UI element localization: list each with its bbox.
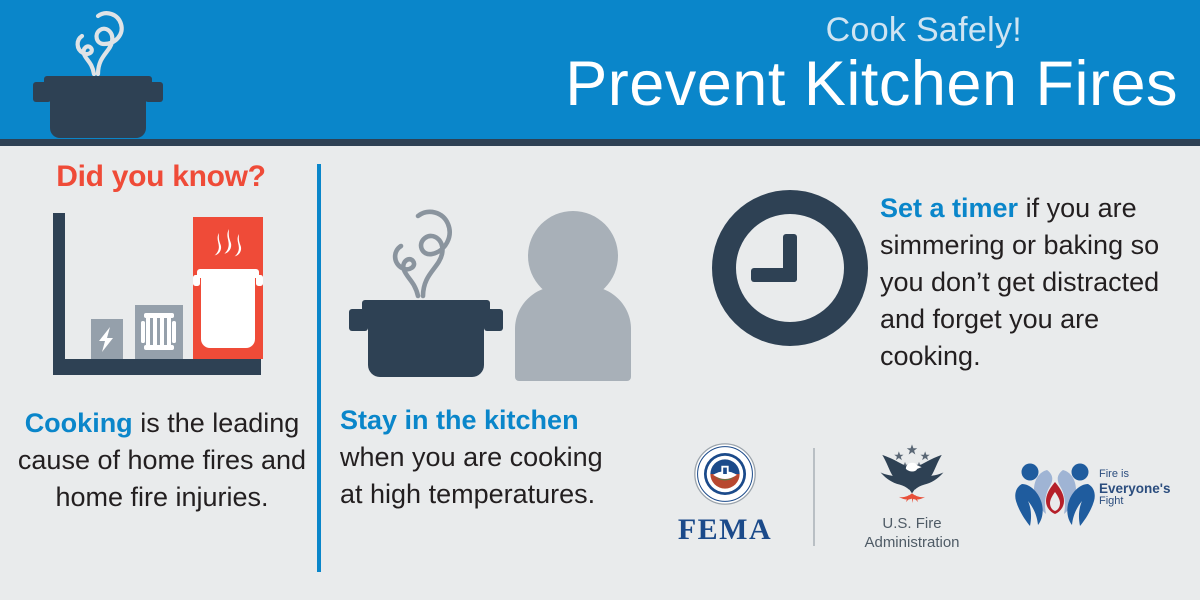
clock-hands <box>751 234 797 282</box>
middle-caption: Stay in the kitchen when you are cooking… <box>340 402 630 513</box>
two-people-flame-icon <box>1013 454 1097 530</box>
bar-cooking <box>193 217 263 359</box>
steaming-pot-icon <box>193 269 263 348</box>
right-caption: Set a timer if you are simmering or baki… <box>880 190 1170 375</box>
page-title: Prevent Kitchen Fires <box>180 46 1190 122</box>
causes-bar-chart <box>53 213 273 383</box>
did-you-know-eyebrow: Did you know? <box>22 160 300 194</box>
header-bottom-rule <box>0 139 1200 146</box>
usfa-line-1: U.S. Fire <box>837 514 987 533</box>
fire-is-everyones-fight-logo[interactable]: Fire is Everyone's Fight <box>1013 454 1185 534</box>
middle-caption-rest: when you are cooking at high temperature… <box>340 442 603 509</box>
bar-electrical <box>91 319 123 359</box>
header-steaming-pot-icon <box>26 4 170 140</box>
usfa-wordmark: U.S. Fire Administration <box>837 514 987 552</box>
fema-logo[interactable]: FEMA <box>655 442 795 547</box>
middle-caption-bold: Stay in the kitchen <box>340 405 579 435</box>
usfa-logo[interactable]: U.S. Fire Administration <box>837 442 987 552</box>
person-icon <box>515 211 631 381</box>
logo-row: FEMA <box>655 442 1185 560</box>
eagle-icon <box>870 442 954 508</box>
dhs-seal-icon <box>693 442 757 506</box>
feef-line-2: Everyone's <box>1099 482 1185 496</box>
kitchen-scene-art <box>338 178 648 386</box>
fema-wordmark: FEMA <box>655 513 795 547</box>
header-title-block: Cook Safely! Prevent Kitchen Fires <box>180 10 1190 122</box>
vertical-divider <box>317 164 321 572</box>
flame-icon <box>899 493 925 503</box>
right-caption-bold: Set a timer <box>880 193 1018 223</box>
usfa-line-2: Administration <box>837 533 987 552</box>
feef-wordmark: Fire is Everyone's Fight <box>1099 468 1185 509</box>
steam-icon <box>395 212 449 296</box>
left-caption-bold: Cooking <box>25 408 133 438</box>
header-kicker: Cook Safely! <box>180 10 1190 50</box>
bar-heating <box>135 305 183 359</box>
steaming-pot-icon <box>349 300 503 377</box>
feef-line-1: Fire is <box>1099 468 1185 482</box>
clock-icon <box>712 190 868 346</box>
feef-line-3: Fight <box>1099 495 1185 509</box>
infographic-poster: Cook Safely! Prevent Kitchen Fires Did y… <box>0 0 1200 600</box>
logo-separator <box>813 448 815 546</box>
left-caption: Cooking is the leading cause of home fir… <box>16 405 308 516</box>
